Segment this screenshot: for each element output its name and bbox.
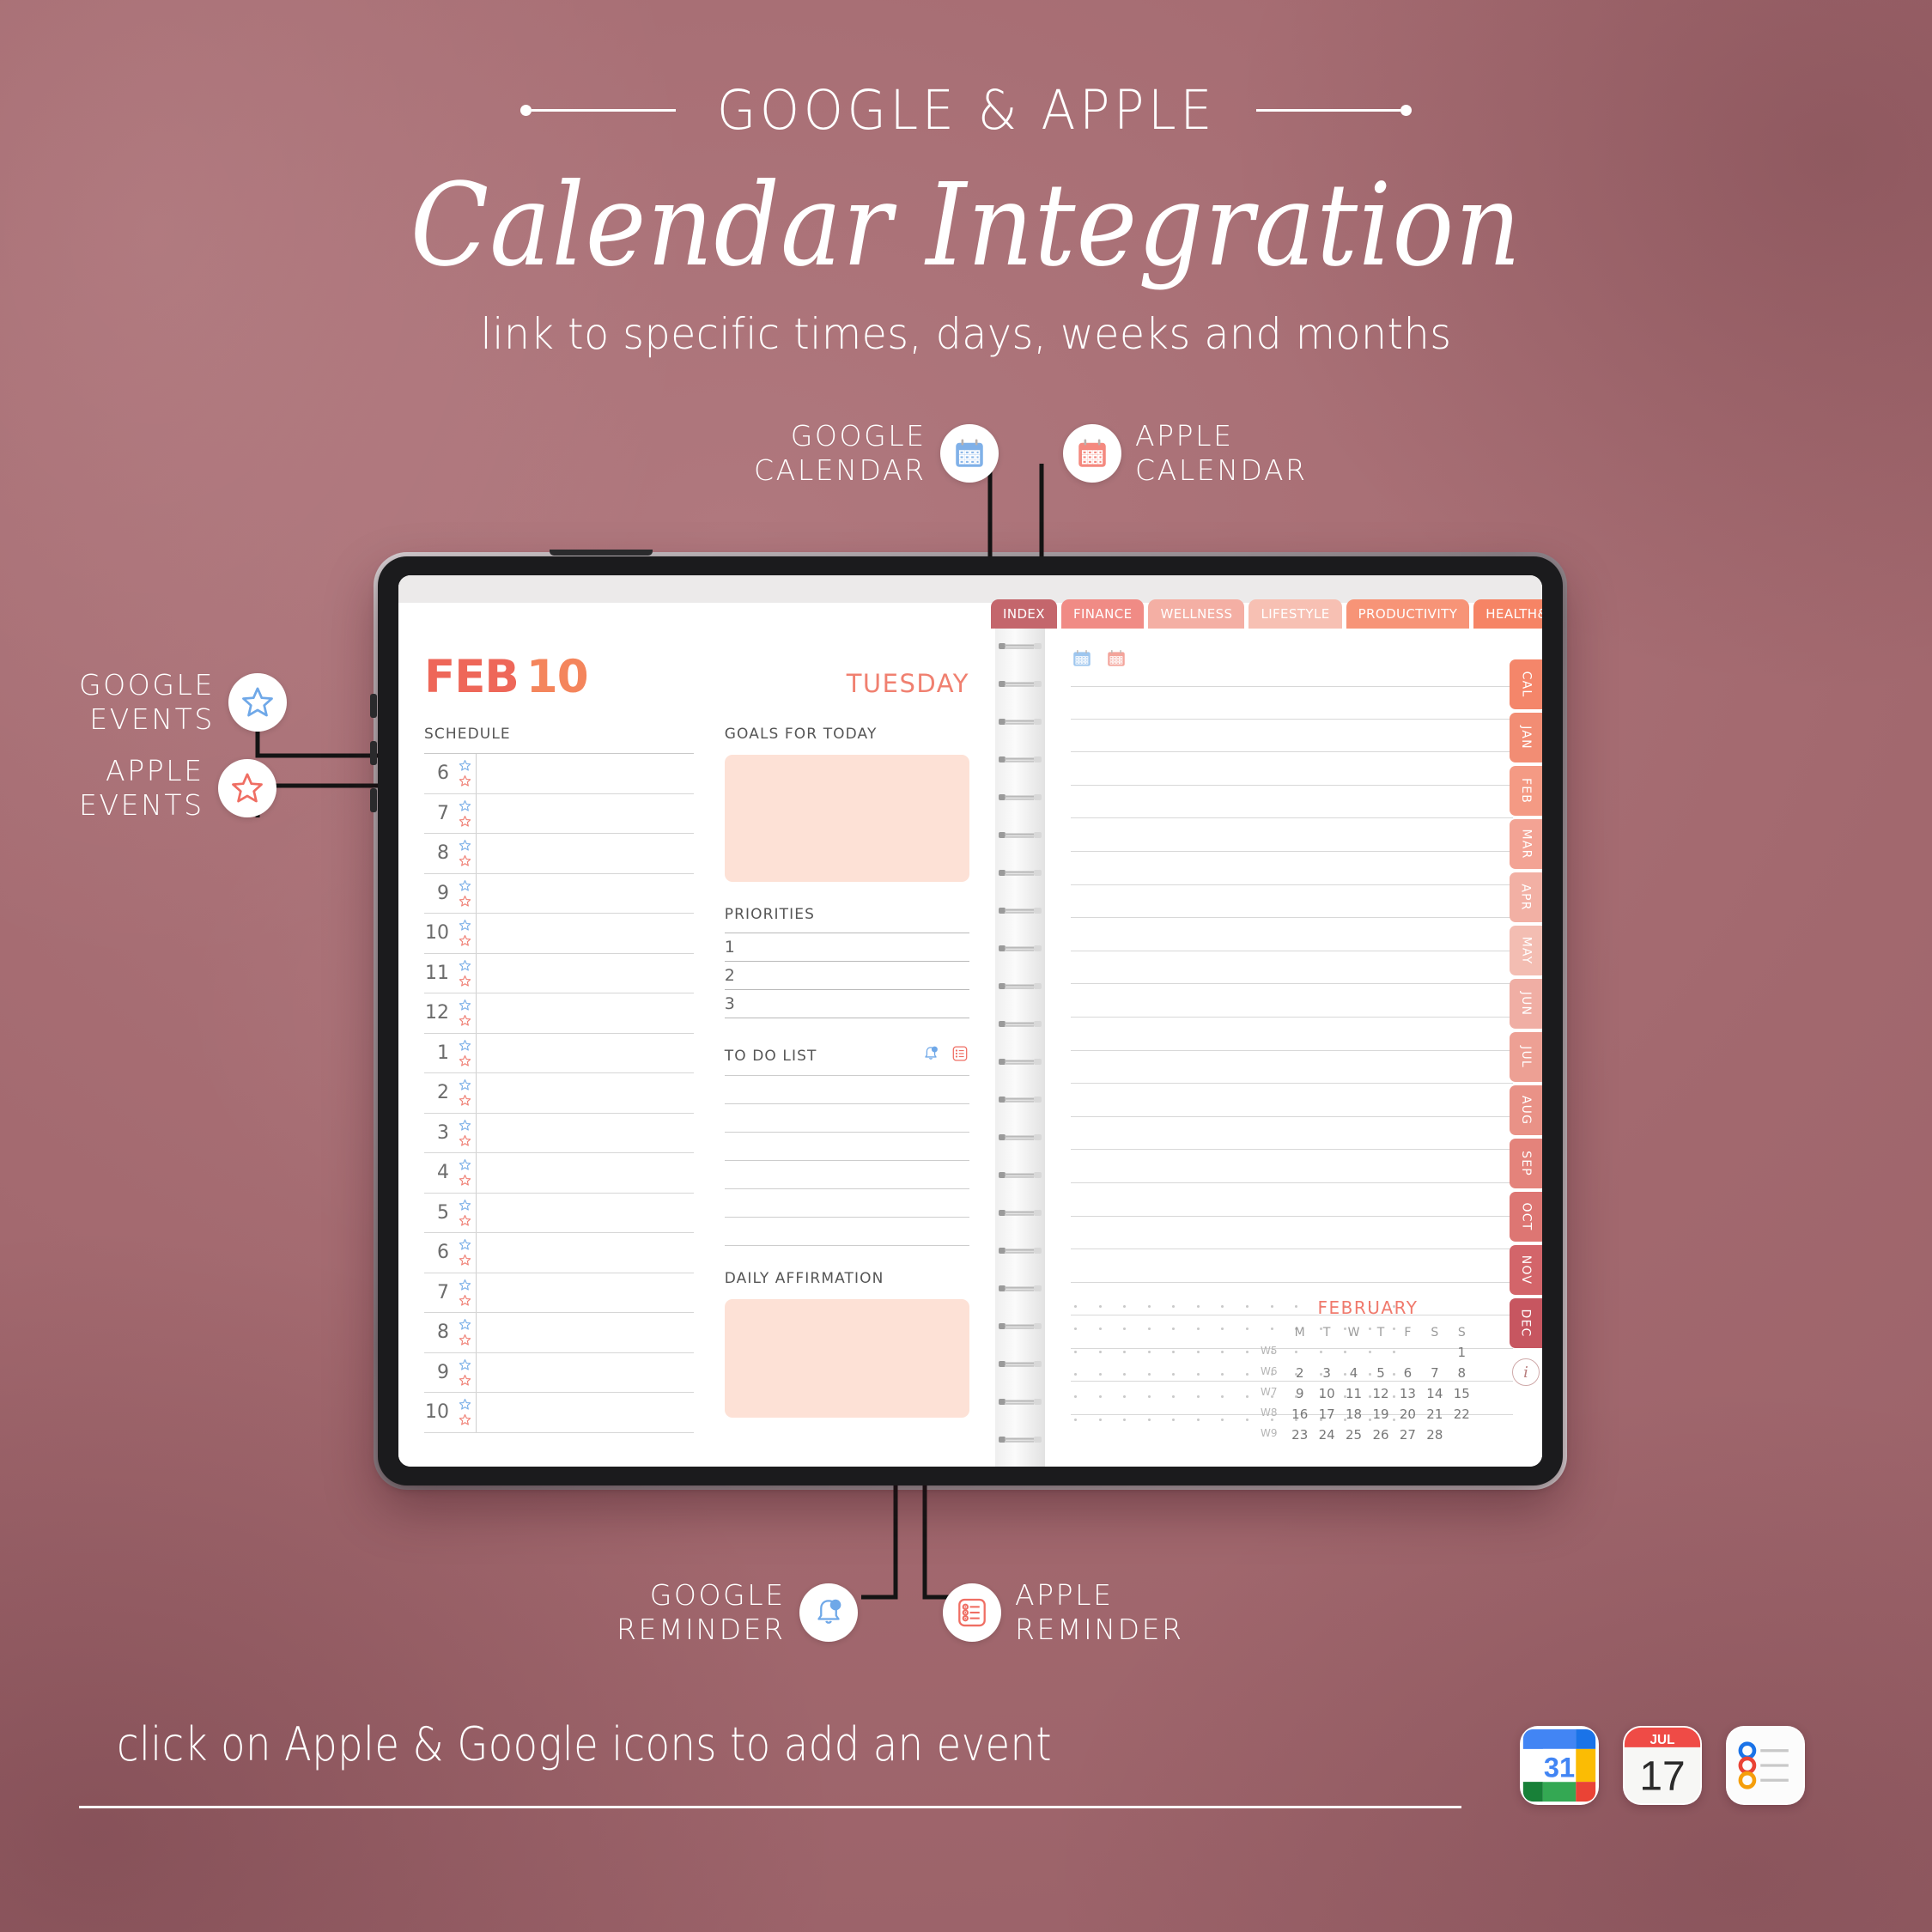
todo-list — [725, 1075, 969, 1246]
bell-glyph — [811, 1595, 847, 1631]
grid-dot — [1099, 1327, 1102, 1330]
schedule-entry-line[interactable] — [476, 1034, 694, 1073]
red-star-icon[interactable] — [458, 1253, 472, 1267]
blue-star-icon[interactable] — [458, 1038, 472, 1053]
schedule-row[interactable]: 9 — [424, 874, 694, 914]
info-button[interactable]: i — [1512, 1358, 1540, 1386]
calendar-glyph — [1105, 647, 1127, 670]
schedule-row[interactable]: 10 — [424, 1393, 694, 1433]
callout-apple-reminder-label: APPLE REMINDER — [1015, 1578, 1184, 1648]
red-star-icon[interactable] — [458, 1213, 472, 1228]
spiral-ring — [999, 1396, 1042, 1407]
schedule-entry-line[interactable] — [476, 1114, 694, 1153]
schedule-row[interactable]: 9 — [424, 1353, 694, 1394]
grid-dot — [1123, 1327, 1126, 1330]
schedule-row[interactable]: 7 — [424, 794, 694, 835]
schedule-star-group — [453, 1353, 476, 1393]
callout-apple-reminder: APPLE REMINDER — [943, 1578, 1184, 1648]
schedule-star-group — [453, 754, 476, 793]
month-tab-sep[interactable]: SEP — [1510, 1139, 1542, 1188]
callout-google-events-label: GOOGLE EVENTS — [79, 668, 215, 738]
note-line[interactable] — [1071, 786, 1513, 819]
mini-cal-day[interactable]: 9 — [1286, 1386, 1313, 1401]
schedule-entry-line[interactable] — [476, 993, 694, 1033]
calendar-glyph — [1071, 647, 1093, 670]
red-star-icon[interactable] — [458, 1373, 472, 1388]
note-line[interactable] — [1071, 951, 1513, 985]
mini-cal-day[interactable]: 23 — [1286, 1427, 1313, 1443]
note-line[interactable] — [1071, 818, 1513, 852]
red-star-icon[interactable] — [458, 814, 472, 829]
google-reminder-icon[interactable] — [921, 1044, 940, 1067]
mini-cal-day[interactable]: 22 — [1449, 1406, 1475, 1422]
right-page-icon-group — [1071, 647, 1513, 674]
note-line[interactable] — [1071, 1183, 1513, 1217]
blue-star-icon[interactable] — [228, 673, 287, 732]
schedule-star-group — [453, 794, 476, 834]
mini-cal-day[interactable]: 7 — [1421, 1365, 1448, 1381]
bell-icon[interactable] — [799, 1583, 858, 1642]
note-line[interactable] — [1071, 752, 1513, 786]
apple-calendar-app-icon[interactable]: JUL 17 — [1623, 1726, 1702, 1805]
todo-row[interactable] — [725, 1161, 969, 1189]
eyebrow-rule-left — [520, 105, 676, 116]
schedule-star-group — [453, 954, 476, 993]
mini-cal-day[interactable] — [1340, 1345, 1367, 1360]
page-subtitle: link to specific times, days, weeks and … — [48, 309, 1884, 359]
apple-calendar-icon[interactable] — [1063, 424, 1121, 483]
schedule-hour-label: 1 — [424, 1034, 453, 1073]
apple-reminder-icon[interactable] — [951, 1044, 969, 1067]
red-star-icon[interactable] — [458, 1333, 472, 1347]
todo-row[interactable] — [725, 1218, 969, 1246]
red-star-icon[interactable] — [458, 1173, 472, 1188]
mini-cal-day[interactable] — [1313, 1345, 1340, 1360]
mini-cal-weekday: S — [1449, 1326, 1475, 1340]
mini-calendar: FEBRUARY MTWTFSSW51W62345678W79101112131… — [1261, 1297, 1475, 1443]
spiral-ring — [999, 1321, 1042, 1332]
blue-star-icon[interactable] — [458, 1397, 472, 1412]
grid-dot — [1148, 1373, 1151, 1376]
schedule-hour-label: 10 — [424, 1393, 453, 1432]
apple-reminders-glyph — [1726, 1726, 1805, 1805]
grid-dot — [1221, 1351, 1224, 1353]
note-line[interactable] — [1071, 1084, 1513, 1117]
mini-cal-day[interactable]: 24 — [1313, 1427, 1340, 1443]
note-line[interactable] — [1071, 984, 1513, 1018]
grid-dot — [1172, 1419, 1175, 1421]
schedule-entry-line[interactable] — [476, 954, 694, 993]
schedule-entry-line[interactable] — [476, 1233, 694, 1273]
spiral-ring — [999, 943, 1042, 954]
month-tab-cal[interactable]: CAL — [1510, 659, 1542, 709]
callout-apple-events: APPLE EVENTS — [79, 754, 276, 823]
todo-row[interactable] — [725, 1076, 969, 1104]
grid-dot — [1221, 1373, 1224, 1376]
blue-star-icon[interactable] — [458, 1157, 472, 1172]
reminders-glyph — [954, 1595, 990, 1631]
priority-row[interactable]: 2 — [725, 962, 969, 990]
reminders-list-icon[interactable] — [943, 1583, 1001, 1642]
month-tab-label: JUL — [1519, 1046, 1533, 1068]
schedule-hour-label: 7 — [424, 794, 453, 834]
grid-dot — [1221, 1395, 1224, 1398]
category-tab-finance[interactable]: FINANCE — [1061, 599, 1145, 629]
mini-calendar-title: FEBRUARY — [1261, 1297, 1475, 1318]
month-tab-dec[interactable]: DEC — [1510, 1298, 1542, 1348]
mini-cal-day[interactable]: 5 — [1367, 1365, 1394, 1381]
mini-cal-day[interactable]: 6 — [1394, 1365, 1421, 1381]
grid-dot — [1197, 1327, 1200, 1330]
grid-dot — [1197, 1305, 1200, 1308]
schedule-star-group — [453, 1073, 476, 1113]
goals-label: GOALS FOR TODAY — [725, 726, 969, 743]
schedule-entry-line[interactable] — [476, 1073, 694, 1113]
date-month: FEB — [424, 651, 519, 703]
category-tab-wellness[interactable]: WELLNESS — [1148, 599, 1244, 629]
spiral-ring — [999, 1056, 1042, 1067]
spiral-ring — [999, 981, 1042, 992]
calendar-glyph — [951, 435, 987, 471]
todo-header: TO DO LIST — [725, 1044, 969, 1067]
spiral-ring — [999, 1434, 1042, 1445]
month-tab-jul[interactable]: JUL — [1510, 1032, 1542, 1082]
red-star-icon[interactable] — [458, 1413, 472, 1427]
mini-cal-day[interactable] — [1394, 1345, 1421, 1360]
red-star-icon[interactable] — [458, 1093, 472, 1108]
schedule-row[interactable]: 8 — [424, 834, 694, 874]
spiral-ring — [999, 678, 1042, 690]
volume-up-button[interactable] — [370, 741, 377, 765]
grid-dot — [1221, 1305, 1224, 1308]
month-tab-oct[interactable]: OCT — [1510, 1192, 1542, 1242]
spiral-ring — [999, 1358, 1042, 1370]
mini-cal-day[interactable]: 17 — [1313, 1406, 1340, 1422]
mini-cal-week-label: W6 — [1261, 1365, 1286, 1381]
schedule-entry-line[interactable] — [476, 1313, 694, 1352]
note-line[interactable] — [1071, 1249, 1513, 1283]
schedule-hour-label: 4 — [424, 1153, 453, 1193]
todo-label: TO DO LIST — [725, 1048, 817, 1065]
red-star-icon[interactable] — [218, 759, 276, 817]
mini-cal-day[interactable]: 12 — [1367, 1386, 1394, 1401]
category-tab-index[interactable]: INDEX — [991, 599, 1057, 629]
mini-cal-day[interactable]: 28 — [1421, 1427, 1448, 1443]
grid-dot — [1246, 1351, 1249, 1353]
affirmation-input-box[interactable] — [725, 1299, 969, 1418]
month-tab-label: AUG — [1519, 1096, 1533, 1125]
svg-text:17: 17 — [1639, 1754, 1685, 1800]
schedule-hour-label: 10 — [424, 914, 453, 953]
note-line[interactable] — [1071, 1217, 1513, 1250]
schedule-entry-line[interactable] — [476, 794, 694, 834]
tablet-device: INDEXFINANCEWELLNESSLIFESTYLEPRODUCTIVIT… — [378, 556, 1563, 1485]
schedule-star-group — [453, 1153, 476, 1193]
goals-input-box[interactable] — [725, 755, 969, 882]
grid-dot — [1123, 1395, 1126, 1398]
spiral-ring — [999, 829, 1042, 841]
grid-dot — [1123, 1419, 1126, 1421]
mini-cal-weekday: W — [1340, 1326, 1367, 1340]
schedule-row[interactable]: 10 — [424, 914, 694, 954]
schedule-label: SCHEDULE — [424, 726, 694, 743]
mini-cal-day[interactable]: 19 — [1367, 1406, 1394, 1422]
note-line[interactable] — [1071, 1150, 1513, 1183]
top-button[interactable] — [550, 550, 653, 556]
mini-cal-day[interactable]: 10 — [1313, 1386, 1340, 1401]
spiral-ring — [999, 905, 1042, 916]
mini-cal-week-label: W9 — [1261, 1427, 1286, 1443]
blue-star-icon[interactable] — [458, 998, 472, 1012]
grid-dot — [1197, 1419, 1200, 1421]
mini-calendar-grid: MTWTFSSW51W62345678W79101112131415W81617… — [1261, 1326, 1475, 1443]
mini-cal-day[interactable]: 27 — [1394, 1427, 1421, 1443]
reminders-glyph — [951, 1044, 969, 1063]
callout-google-reminder: GOOGLE REMINDER — [617, 1578, 858, 1648]
schedule-star-group — [453, 1393, 476, 1432]
google-calendar-add-icon[interactable] — [1071, 647, 1093, 674]
priorities-list: 123 — [725, 933, 969, 1018]
mini-cal-day[interactable]: 1 — [1449, 1345, 1475, 1360]
grid-dot — [1172, 1327, 1175, 1330]
mini-cal-day[interactable]: 18 — [1340, 1406, 1367, 1422]
note-line[interactable] — [1071, 1018, 1513, 1051]
grid-dot — [1074, 1373, 1077, 1376]
volume-down-button[interactable] — [370, 788, 377, 812]
note-line[interactable] — [1071, 1051, 1513, 1084]
mini-cal-day[interactable]: 16 — [1286, 1406, 1313, 1422]
month-tab-apr[interactable]: APR — [1510, 872, 1542, 922]
month-tab-aug[interactable]: AUG — [1510, 1085, 1542, 1135]
power-button[interactable] — [370, 694, 377, 718]
priority-row[interactable]: 3 — [725, 990, 969, 1018]
grid-dot — [1074, 1351, 1077, 1353]
blue-star-icon[interactable] — [458, 1358, 472, 1372]
grid-dot — [1246, 1395, 1249, 1398]
schedule-table: 678910111212345678910 — [424, 753, 694, 1433]
apple-reminders-app-icon[interactable] — [1726, 1726, 1805, 1805]
blue-star-icon[interactable] — [458, 1237, 472, 1252]
schedule-row[interactable]: 5 — [424, 1194, 694, 1234]
mini-cal-weekday: T — [1367, 1326, 1394, 1340]
schedule-row[interactable]: 11 — [424, 954, 694, 994]
note-line[interactable] — [1071, 686, 1513, 720]
red-star-icon[interactable] — [458, 1293, 472, 1308]
schedule-entry-line[interactable] — [476, 874, 694, 914]
schedule-star-group — [453, 1114, 476, 1153]
schedule-entry-line[interactable] — [476, 754, 694, 793]
red-star-icon[interactable] — [458, 774, 472, 788]
month-tab-label: NOV — [1519, 1255, 1533, 1285]
blue-star-icon[interactable] — [458, 1118, 472, 1133]
grid-dot — [1074, 1395, 1077, 1398]
red-star-icon[interactable] — [458, 1133, 472, 1148]
schedule-hour-label: 7 — [424, 1273, 453, 1313]
mini-cal-day[interactable] — [1421, 1345, 1448, 1360]
grid-dot — [1172, 1351, 1175, 1353]
schedule-star-group — [453, 1273, 476, 1313]
schedule-hour-label: 5 — [424, 1194, 453, 1233]
blue-star-icon[interactable] — [458, 799, 472, 813]
grid-dot — [1148, 1327, 1151, 1330]
schedule-row[interactable]: 6 — [424, 1233, 694, 1273]
grid-dot — [1099, 1419, 1102, 1421]
category-tab-health-fitness[interactable]: HEALTH&FITNESS — [1473, 599, 1542, 629]
schedule-star-group — [453, 914, 476, 953]
blue-star-icon[interactable] — [458, 918, 472, 933]
schedule-row[interactable]: 4 — [424, 1153, 694, 1194]
schedule-row[interactable]: 8 — [424, 1313, 694, 1353]
note-line[interactable] — [1071, 918, 1513, 951]
note-line[interactable] — [1071, 885, 1513, 919]
red-star-icon[interactable] — [458, 1013, 472, 1028]
category-tab-lifestyle[interactable]: LIFESTYLE — [1249, 599, 1341, 629]
blue-star-icon[interactable] — [458, 838, 472, 853]
grid-dot — [1221, 1419, 1224, 1421]
mini-cal-day[interactable]: 4 — [1340, 1365, 1367, 1381]
blue-star-icon[interactable] — [458, 1078, 472, 1092]
weekday-label: TUESDAY — [847, 669, 969, 698]
mini-cal-day[interactable] — [1367, 1345, 1394, 1360]
red-star-icon[interactable] — [458, 854, 472, 868]
month-tab-jun[interactable]: JUN — [1510, 979, 1542, 1029]
schedule-hour-label: 9 — [424, 1353, 453, 1393]
day-header: FEB10 TUESDAY — [424, 651, 969, 703]
grid-dot — [1246, 1305, 1249, 1308]
month-tab-label: MAY — [1519, 937, 1533, 965]
note-line[interactable] — [1071, 1117, 1513, 1151]
spiral-ring — [999, 1170, 1042, 1181]
blue-star-icon[interactable] — [458, 1278, 472, 1292]
grid-dot — [1123, 1373, 1126, 1376]
mini-cal-day[interactable] — [1286, 1345, 1313, 1360]
blue-star-icon[interactable] — [458, 878, 472, 893]
blue-star-icon[interactable] — [458, 758, 472, 773]
grid-dot — [1148, 1305, 1151, 1308]
month-tab-label: MAR — [1519, 829, 1533, 860]
schedule-entry-line[interactable] — [476, 1393, 694, 1432]
mini-cal-day[interactable]: 8 — [1449, 1365, 1475, 1381]
mini-cal-day[interactable]: 26 — [1367, 1427, 1394, 1443]
blue-star-icon[interactable] — [458, 958, 472, 973]
svg-text:31: 31 — [1544, 1752, 1575, 1783]
priority-row[interactable]: 1 — [725, 933, 969, 962]
google-calendar-app-icon[interactable]: 31 — [1520, 1726, 1599, 1805]
spiral-ring — [999, 1207, 1042, 1218]
planner-left-page: FEB10 TUESDAY SCHEDULE 67891011121234567… — [398, 629, 995, 1467]
mini-cal-day[interactable]: 25 — [1340, 1427, 1367, 1443]
red-star-icon[interactable] — [458, 974, 472, 988]
apple-calendar-add-icon[interactable] — [1105, 647, 1127, 674]
google-calendar-icon[interactable] — [940, 424, 999, 483]
spiral-ring — [999, 867, 1042, 878]
eyebrow-rule-right — [1256, 105, 1412, 116]
mini-cal-week-label: W5 — [1261, 1345, 1286, 1360]
red-star-icon[interactable] — [458, 933, 472, 948]
schedule-entry-line[interactable] — [476, 1153, 694, 1193]
bell-glyph — [921, 1044, 940, 1063]
blue-star-icon[interactable] — [458, 1317, 472, 1332]
month-tab-label: DEC — [1519, 1309, 1533, 1337]
grid-dot — [1221, 1327, 1224, 1330]
eyebrow-row: GOOGLE & APPLE — [0, 79, 1932, 142]
schedule-star-group — [453, 1034, 476, 1073]
callout-google-events: GOOGLE EVENTS — [79, 668, 287, 738]
blue-star-icon[interactable] — [458, 1198, 472, 1212]
mini-cal-day[interactable]: 15 — [1449, 1386, 1475, 1401]
grid-dot — [1074, 1327, 1077, 1330]
mini-cal-day[interactable]: 21 — [1421, 1406, 1448, 1422]
red-star-icon[interactable] — [458, 1054, 472, 1068]
schedule-entry-line[interactable] — [476, 1353, 694, 1393]
spiral-ring — [999, 716, 1042, 727]
mini-cal-day[interactable]: 14 — [1421, 1386, 1448, 1401]
month-tab-may[interactable]: MAY — [1510, 926, 1542, 975]
todo-row[interactable] — [725, 1189, 969, 1218]
star-glyph — [239, 683, 276, 721]
mini-cal-day[interactable]: 2 — [1286, 1365, 1313, 1381]
month-tab-mar[interactable]: MAR — [1510, 819, 1542, 869]
month-tab-label: JAN — [1519, 726, 1533, 750]
mini-cal-day[interactable]: 3 — [1313, 1365, 1340, 1381]
affirmation-label: DAILY AFFIRMATION — [725, 1270, 969, 1287]
month-tab-jan[interactable]: JAN — [1510, 713, 1542, 762]
spiral-ring — [999, 792, 1042, 803]
spiral-ring — [999, 1132, 1042, 1143]
schedule-entry-line[interactable] — [476, 1194, 694, 1233]
mini-cal-day[interactable] — [1449, 1427, 1475, 1443]
grid-dot — [1197, 1395, 1200, 1398]
spiral-ring — [999, 754, 1042, 765]
schedule-entry-line[interactable] — [476, 1273, 694, 1313]
red-star-icon[interactable] — [458, 894, 472, 908]
note-line[interactable] — [1071, 852, 1513, 885]
grid-dot — [1074, 1305, 1077, 1308]
mini-cal-day[interactable]: 11 — [1340, 1386, 1367, 1401]
schedule-row[interactable]: 3 — [424, 1114, 694, 1154]
month-tab-label: JUN — [1519, 992, 1533, 1016]
mini-cal-day[interactable]: 20 — [1394, 1406, 1421, 1422]
schedule-row[interactable]: 6 — [424, 754, 694, 794]
category-tab-productivity[interactable]: PRODUCTIVITY — [1346, 599, 1470, 629]
schedule-entry-line[interactable] — [476, 914, 694, 953]
month-tab-label: FEB — [1519, 778, 1533, 804]
todo-row[interactable] — [725, 1133, 969, 1161]
page-title: Calendar Integration — [97, 166, 1836, 287]
month-tab-bar: CALJANFEBMARAPRMAYJUNJULAUGSEPOCTNOVDECi — [1506, 629, 1542, 1467]
schedule-row[interactable]: 12 — [424, 993, 694, 1034]
callout-google-reminder-label: GOOGLE REMINDER — [617, 1578, 786, 1648]
left-page-columns: SCHEDULE 678910111212345678910 GOALS FOR… — [424, 726, 969, 1433]
schedule-row[interactable]: 2 — [424, 1073, 694, 1114]
schedule-row[interactable]: 1 — [424, 1034, 694, 1074]
grid-dot — [1074, 1419, 1077, 1421]
footer-divider — [79, 1806, 1461, 1808]
mini-cal-day[interactable]: 13 — [1394, 1386, 1421, 1401]
schedule-hour-label: 6 — [424, 754, 453, 793]
grid-dot — [1246, 1373, 1249, 1376]
month-tab-feb[interactable]: FEB — [1510, 766, 1542, 816]
spiral-ring — [999, 1018, 1042, 1030]
todo-row[interactable] — [725, 1104, 969, 1133]
grid-dot — [1172, 1305, 1175, 1308]
schedule-star-group — [453, 834, 476, 873]
note-line[interactable] — [1071, 720, 1513, 753]
schedule-entry-line[interactable] — [476, 834, 694, 873]
month-tab-nov[interactable]: NOV — [1510, 1245, 1542, 1295]
month-tab-label: SEP — [1519, 1151, 1533, 1176]
schedule-row[interactable]: 7 — [424, 1273, 694, 1314]
